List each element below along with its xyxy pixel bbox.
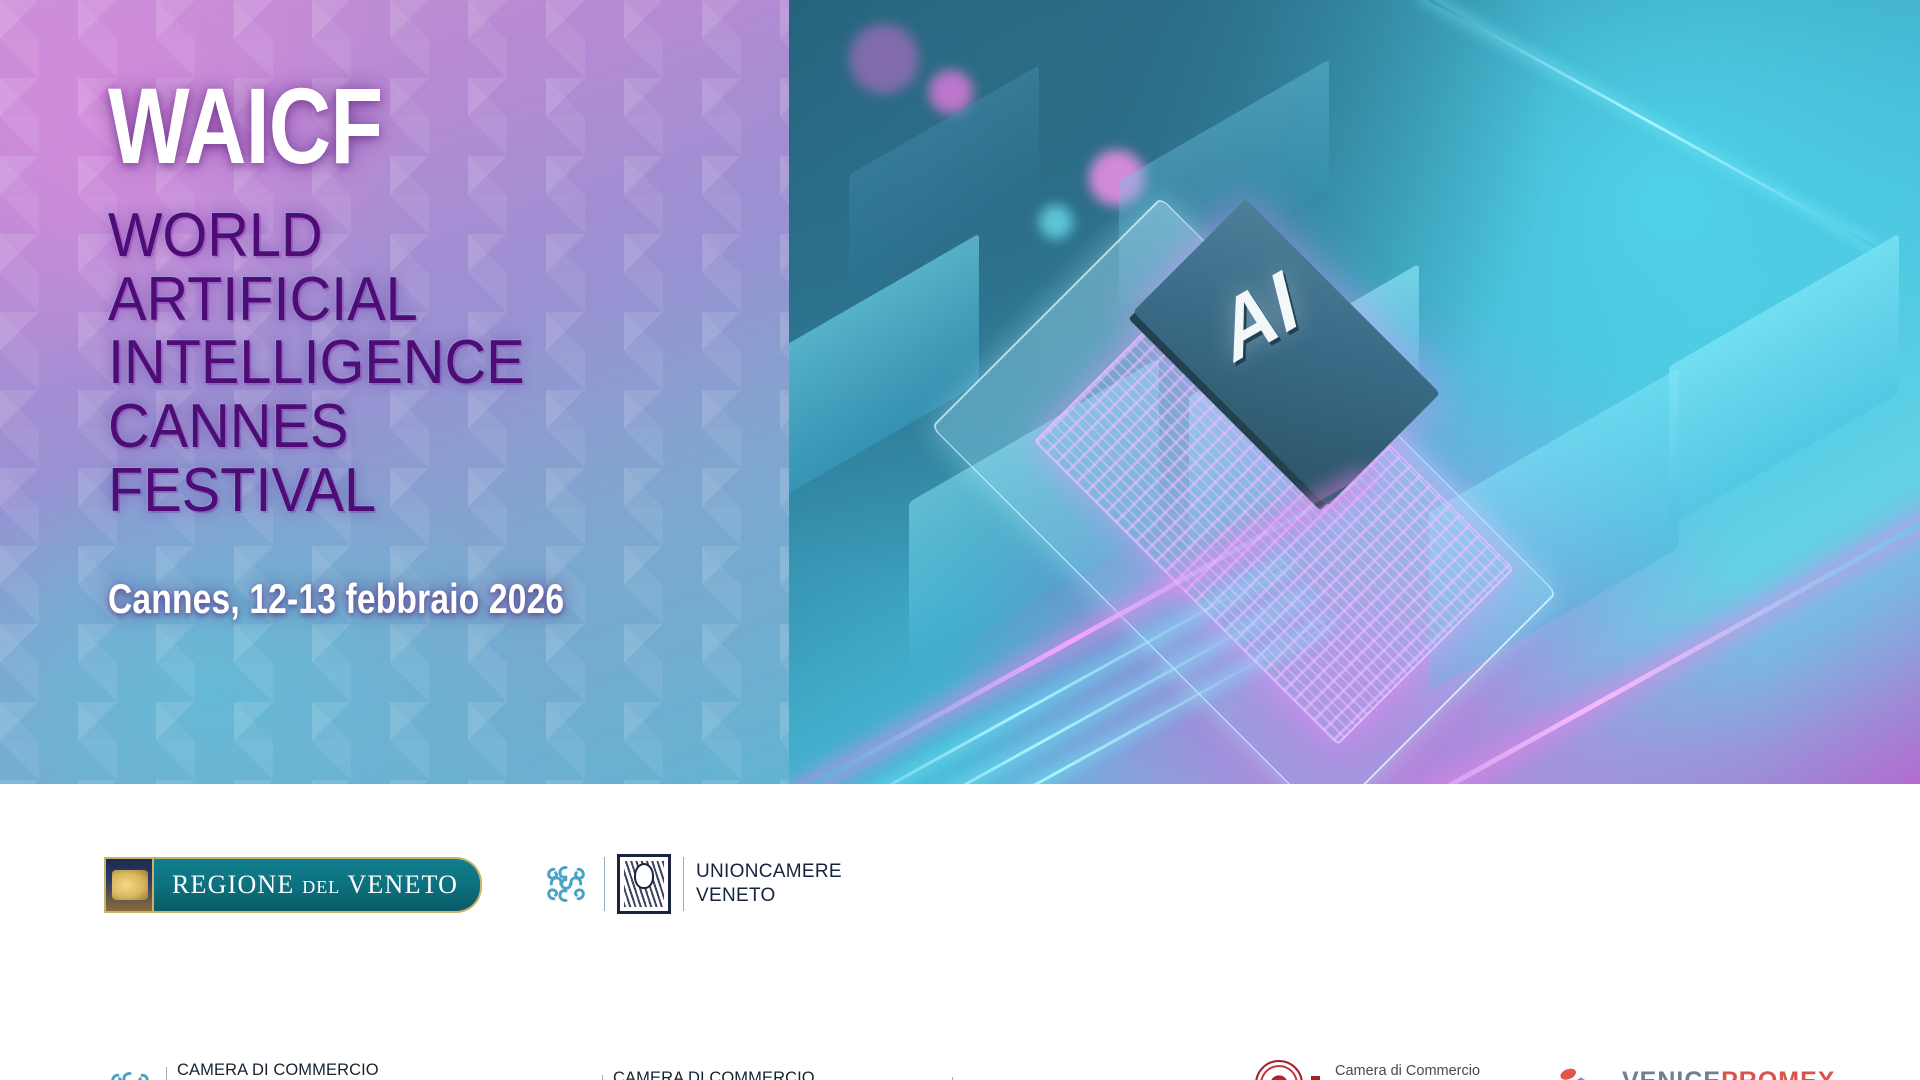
cdc-treviso-line1: CAMERA DI COMMERCIO bbox=[613, 1069, 873, 1080]
rdv-word-regione: REGIONE bbox=[172, 870, 295, 899]
ai-chip-artwork: AI bbox=[789, 0, 1920, 784]
logo-venice-promex: VENICEPROMEX Agenzia per l'internazional… bbox=[1548, 1066, 1835, 1080]
logo-camera-commercio-venezia-rovigo: CAMERA DI COMMERCIO VENEZIA ROVIGO bbox=[890, 1074, 1165, 1080]
logo-row-2b: CAMERA DI COMMERCIO TREVISO - BELLUNO | … bbox=[540, 1069, 873, 1080]
event-date-location: Cannes, 12-13 febbraio 2026 bbox=[108, 575, 636, 623]
veneto-lion-crest-icon bbox=[104, 857, 154, 913]
logo-camera-commercio-padova: CAMERA DI COMMERCIO PADOVA il futuro a p… bbox=[104, 1061, 379, 1080]
logo-row-2e: VENICEPROMEX Agenzia per l'internazional… bbox=[1548, 1066, 1835, 1080]
unioncamere-line2: VENETO bbox=[696, 884, 842, 908]
cdc-padova-line1: CAMERA DI COMMERCIO bbox=[177, 1061, 379, 1080]
logo-row-2c: CAMERA DI COMMERCIO VENEZIA ROVIGO bbox=[890, 1074, 1165, 1080]
rdv-word-del: DEL bbox=[302, 877, 340, 897]
camera-commercio-swirl-icon bbox=[540, 1072, 592, 1080]
logo-divider bbox=[604, 857, 605, 911]
logo-unioncamere-veneto: UNIONCAMERE VENETO bbox=[540, 854, 842, 914]
camera-commercio-swirl-icon bbox=[890, 1074, 942, 1080]
event-title: WORLD ARTIFICIAL INTELLIGENCE CANNES FES… bbox=[108, 204, 768, 523]
vicenza-seal-icon bbox=[1255, 1060, 1303, 1080]
logo-camera-commercio-vicenza: Camera di Commercio Vicenza bbox=[1255, 1054, 1495, 1080]
microchip-graphic: AI bbox=[964, 120, 1704, 640]
vicenza-line1: Camera di Commercio bbox=[1335, 1062, 1480, 1080]
event-title-line: FESTIVAL bbox=[108, 459, 722, 523]
logo-row-2d: Camera di Commercio Vicenza bbox=[1255, 1054, 1495, 1080]
venicepromex-word-a: VENICE bbox=[1622, 1067, 1721, 1080]
logo-divider bbox=[683, 857, 684, 911]
logo-regione-del-veneto: REGIONE DEL VENETO bbox=[104, 857, 482, 913]
event-title-line: WORLD bbox=[108, 204, 722, 268]
iso-block bbox=[789, 234, 979, 517]
logo-camera-commercio-treviso-belluno-dolomiti: CAMERA DI COMMERCIO TREVISO - BELLUNO | … bbox=[540, 1069, 873, 1080]
rdv-word-veneto: VENETO bbox=[347, 870, 458, 899]
event-title-line: INTELLIGENCE bbox=[108, 331, 722, 395]
hero-copy-block: WAICF WORLD ARTIFICIAL INTELLIGENCE CANN… bbox=[108, 74, 768, 623]
logo-divider bbox=[166, 1067, 167, 1080]
camera-commercio-swirl-icon bbox=[104, 1064, 156, 1080]
sponsor-footer: REGIONE DEL VENETO bbox=[0, 784, 1920, 1080]
logo-row-2a: CAMERA DI COMMERCIO PADOVA il futuro a p… bbox=[104, 1061, 379, 1080]
bokeh-dot-icon bbox=[849, 24, 919, 94]
unioncamere-seal-icon bbox=[617, 854, 671, 914]
logo-divider bbox=[602, 1075, 603, 1080]
event-title-line: CANNES bbox=[108, 395, 722, 459]
venicepromex-word-b: PROMEX bbox=[1721, 1067, 1835, 1080]
unioncamere-line1: UNIONCAMERE bbox=[696, 860, 842, 884]
hero-banner: AI WAICF WORLD ARTIFICIAL INTELLIGENCE C… bbox=[0, 0, 1920, 784]
logo-row-1: REGIONE DEL VENETO bbox=[104, 857, 482, 913]
logo-row-1b: UNIONCAMERE VENETO bbox=[540, 854, 842, 914]
event-acronym: WAICF bbox=[108, 74, 636, 178]
regione-del-veneto-wordmark: REGIONE DEL VENETO bbox=[154, 857, 482, 913]
camera-commercio-swirl-icon bbox=[540, 858, 592, 910]
venice-promex-hex-globe-icon bbox=[1548, 1066, 1612, 1080]
event-title-line: ARTIFICIAL bbox=[108, 268, 722, 332]
